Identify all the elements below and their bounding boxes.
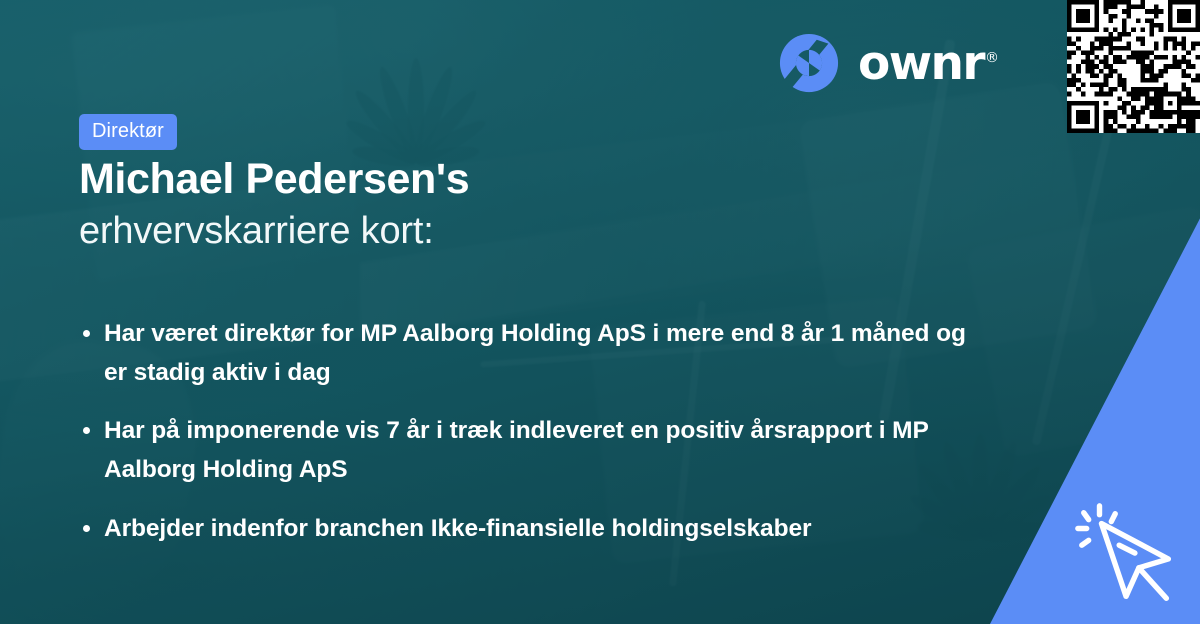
- role-badge: Direktør: [79, 114, 177, 150]
- wordmark-text: ownr: [858, 36, 984, 91]
- qr-code-graphic: [1067, 0, 1200, 133]
- bullet-dot-icon: [83, 427, 90, 434]
- headline-line1: Michael Pedersen's: [79, 155, 979, 205]
- ownr-profile-card: ownr® Direktør Michael Pedersen's erhver…: [0, 0, 1200, 624]
- ownr-circle-swirl-logo: [778, 32, 840, 94]
- list-item: Har været direktør for MP Aalborg Holdin…: [79, 315, 979, 392]
- registered-mark: ®: [985, 50, 999, 66]
- ownr-logo[interactable]: ownr®: [778, 32, 999, 94]
- list-item: Arbejder indenfor branchen Ikke-finansie…: [79, 510, 979, 549]
- list-item: Har på imponerende vis 7 år i træk indle…: [79, 412, 979, 489]
- headline-line2: erhvervskarriere kort:: [79, 209, 979, 255]
- bullet-dot-icon: [83, 525, 90, 532]
- list-item-text: Arbejder indenfor branchen Ikke-finansie…: [104, 515, 811, 542]
- list-item-text: Har været direktør for MP Aalborg Holdin…: [104, 320, 966, 386]
- career-facts-list: Har været direktør for MP Aalborg Holdin…: [79, 315, 979, 549]
- list-item-text: Har på imponerende vis 7 år i træk indle…: [104, 417, 928, 483]
- click-cursor-icon: [1070, 498, 1188, 616]
- page-title: Michael Pedersen's erhvervskarriere kort…: [79, 155, 979, 254]
- qr-code[interactable]: [1067, 0, 1200, 133]
- bullet-dot-icon: [83, 330, 90, 337]
- ownr-wordmark: ownr®: [858, 40, 999, 87]
